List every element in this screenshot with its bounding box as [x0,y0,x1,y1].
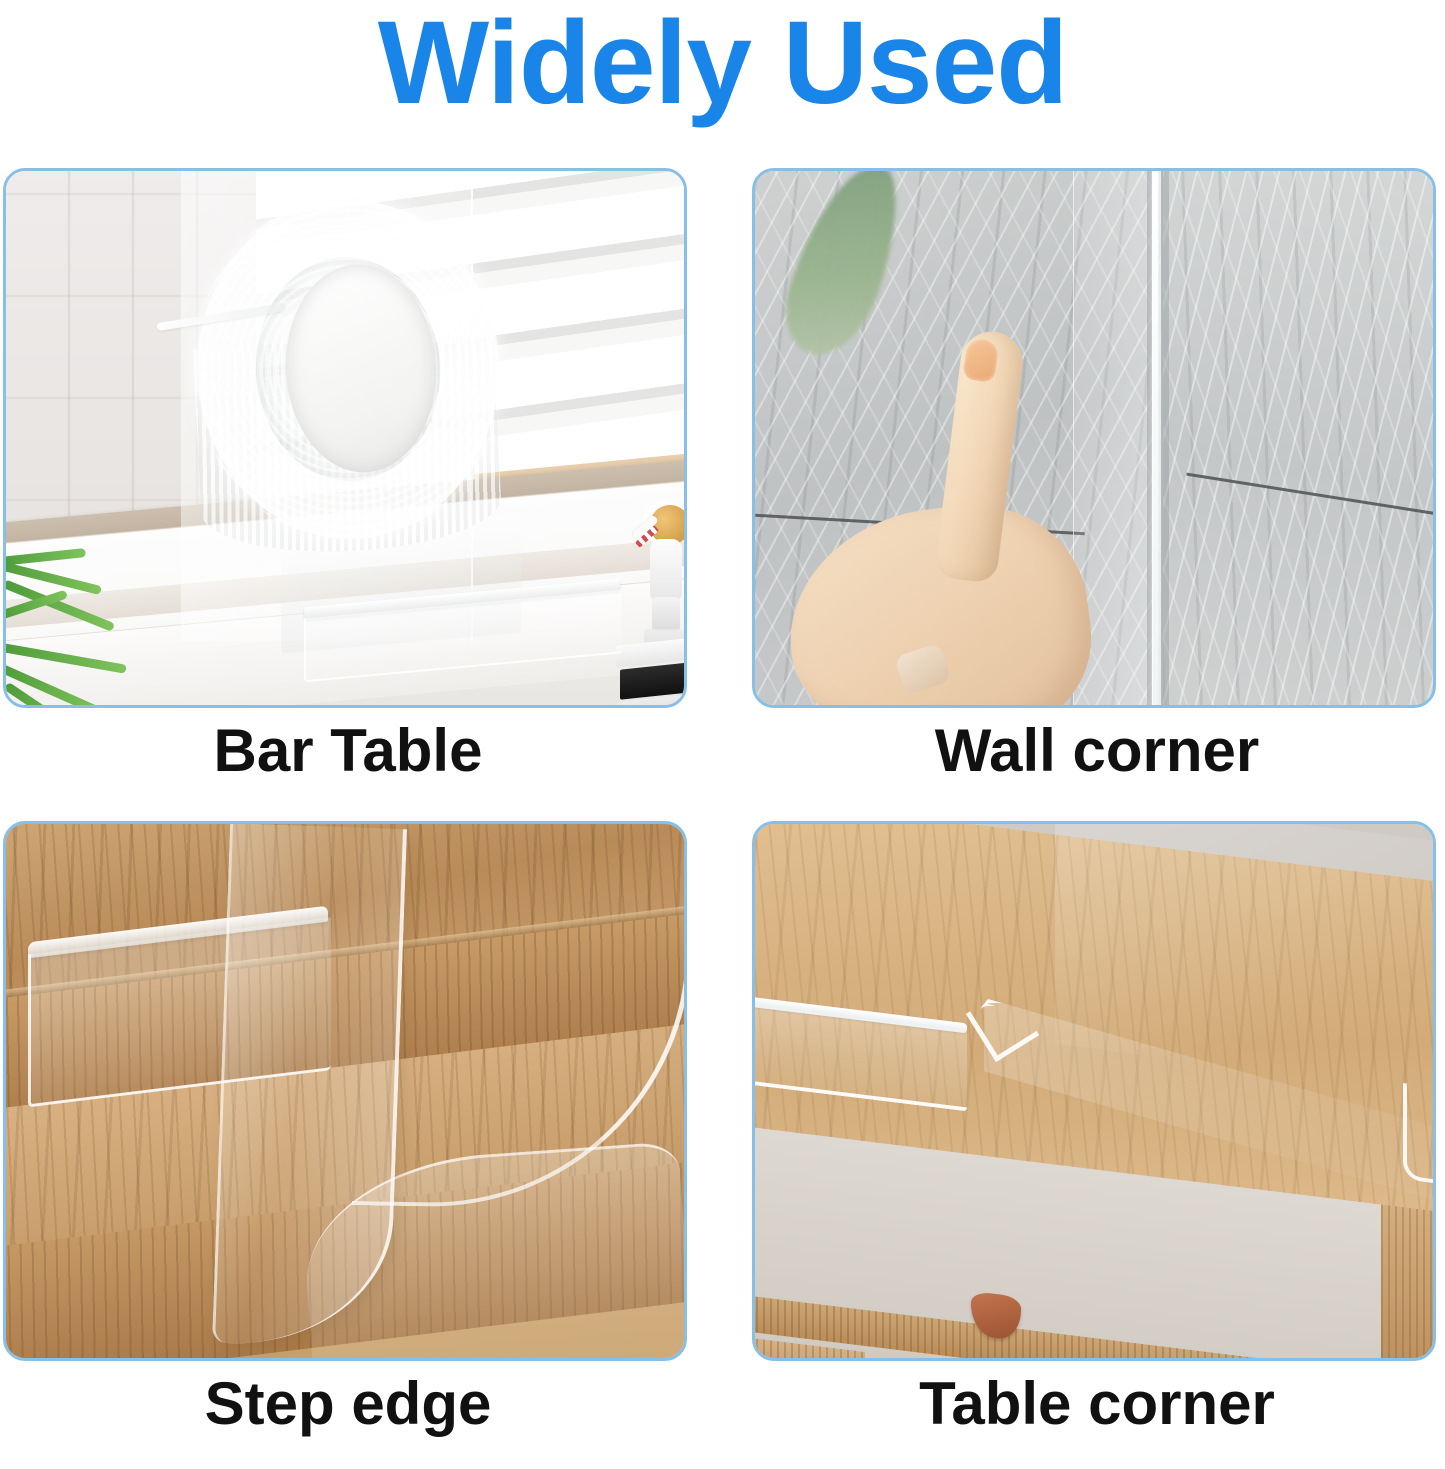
edge-guard-band [982,998,1436,1307]
panel-step-edge[interactable]: Step edge [3,821,693,1469]
caption-step-edge: Step edge [3,1369,693,1438]
marble-tile-right [1163,171,1436,708]
fern-plant [3,551,150,708]
edge-guard-strip [983,1000,1436,1320]
page-title: Widely Used [0,0,1445,140]
photo-table-corner[interactable] [752,821,1436,1361]
panel-grid: Bar Table Wall corner [0,168,1445,1453]
photo-step-edge[interactable] [3,821,687,1361]
tape-roll [189,191,506,546]
books-stack [616,641,687,708]
panel-table-corner[interactable]: Table corner [752,821,1442,1469]
hand [779,407,1159,708]
caption-bar-table: Bar Table [3,716,693,785]
photo-bar-table[interactable] [3,168,687,708]
caption-wall-corner: Wall corner [752,716,1442,785]
edge-guard-corner-bead [1403,1083,1436,1185]
astronaut-legs [652,597,680,631]
astronaut-body [650,539,682,601]
photo-wall-corner[interactable] [752,168,1436,708]
panel-wall-corner[interactable]: Wall corner [752,168,1442,816]
caption-table-corner: Table corner [752,1369,1442,1438]
panel-bar-table[interactable]: Bar Table [3,168,693,816]
